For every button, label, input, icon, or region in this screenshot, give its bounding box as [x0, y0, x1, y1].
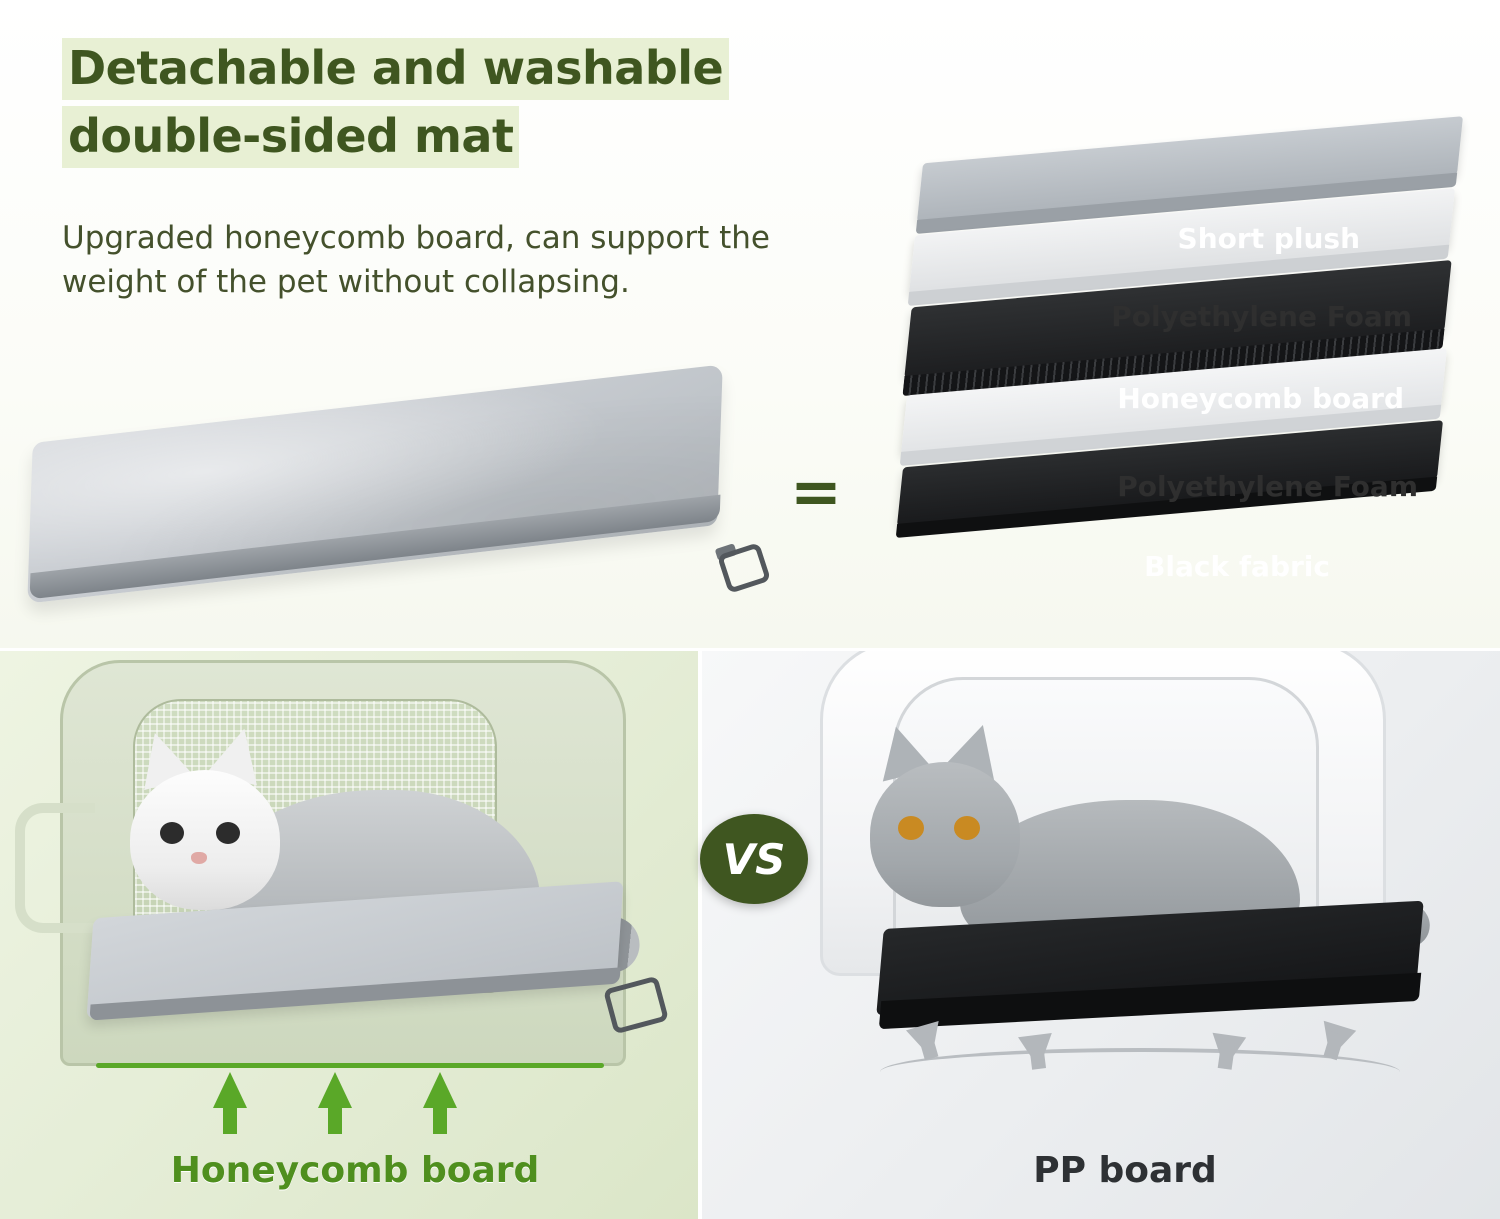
- vs-badge: VS: [700, 814, 808, 904]
- section-divider: [0, 648, 1500, 651]
- subtext-paragraph: Upgraded honeycomb board, can support th…: [62, 216, 852, 304]
- zipper-icon: [716, 546, 770, 588]
- comparison-right-panel: [700, 650, 1500, 1219]
- zipper-icon-left: [603, 976, 669, 1035]
- pp-board-mat-sagging: [880, 915, 1440, 1035]
- layer-stack-diagram: Short plush Polyethylene Foam Honeycomb …: [900, 130, 1480, 590]
- support-arrow-up-2: [318, 1072, 352, 1108]
- sag-arrow-down-3: [1208, 1033, 1246, 1071]
- caption-honeycomb-board: Honeycomb board: [120, 1150, 590, 1191]
- assembled-mat-image: [10, 398, 790, 618]
- layer-label-short-plush: Short plush: [1178, 222, 1360, 255]
- support-baseline: [96, 1063, 604, 1068]
- top-section: Detachable and washable double-sided mat…: [0, 0, 1500, 650]
- comparison-left-panel: [0, 650, 700, 1219]
- support-arrow-up-1: [213, 1072, 247, 1108]
- headline-block: Detachable and washable double-sided mat: [62, 38, 882, 174]
- product-infographic: Detachable and washable double-sided mat…: [0, 0, 1500, 1219]
- layer-label-foam-top: Polyethylene Foam: [1111, 300, 1412, 333]
- caption-pp-board: PP board: [900, 1150, 1350, 1191]
- layer-label-black-fabric: Black fabric: [1144, 550, 1330, 583]
- layer-label-honeycomb-board: Honeycomb board: [1117, 382, 1404, 415]
- support-arrow-up-3: [423, 1072, 457, 1108]
- comparison-divider: [698, 650, 702, 1219]
- equals-sign: =: [790, 455, 842, 528]
- headline-line-2: double-sided mat: [62, 106, 519, 168]
- headline-line-1: Detachable and washable: [62, 38, 729, 100]
- sag-arrow-down-2: [1018, 1033, 1056, 1071]
- layer-label-foam-bottom: Polyethylene Foam: [1117, 470, 1418, 503]
- honeycomb-mat-flat: [60, 900, 640, 1030]
